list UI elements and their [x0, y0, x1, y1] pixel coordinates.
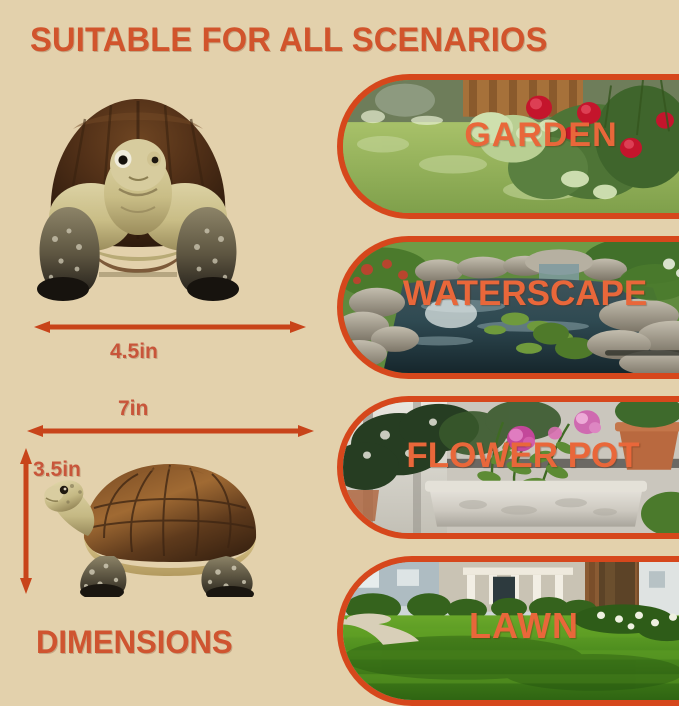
scenarios-panel-list: GARDEN: [337, 74, 679, 669]
product-image-side-view: [42, 452, 292, 597]
dimensions-section: 4.5in 7in 3.5in: [0, 70, 335, 679]
scenario-panel-garden[interactable]: GARDEN: [337, 74, 679, 219]
product-image-front-view: [33, 89, 243, 304]
dimension-label-length: 7in: [118, 397, 148, 421]
dimension-arrow-height: [20, 448, 32, 594]
scenario-label-waterscape: WATERSCAPE: [343, 274, 679, 314]
scenario-panel-waterscape[interactable]: WATERSCAPE: [337, 236, 679, 379]
page-title: SUITABLE FOR ALL SCENARIOS: [30, 21, 548, 60]
dimension-arrow-width: [34, 321, 306, 333]
infographic-root: SUITABLE FOR ALL SCENARIOS: [0, 0, 679, 679]
scenario-label-lawn: LAWN: [343, 605, 679, 647]
dimension-label-width: 4.5in: [110, 340, 158, 364]
scenario-label-garden: GARDEN: [343, 116, 679, 155]
dimensions-heading: DIMENSIONS: [36, 624, 233, 661]
scenario-label-flowerpot: FLOWER POT: [343, 436, 679, 476]
dimension-arrow-length: [27, 425, 314, 437]
scenario-panel-flowerpot[interactable]: FLOWER POT: [337, 396, 679, 539]
scenario-panel-lawn[interactable]: LAWN: [337, 556, 679, 706]
